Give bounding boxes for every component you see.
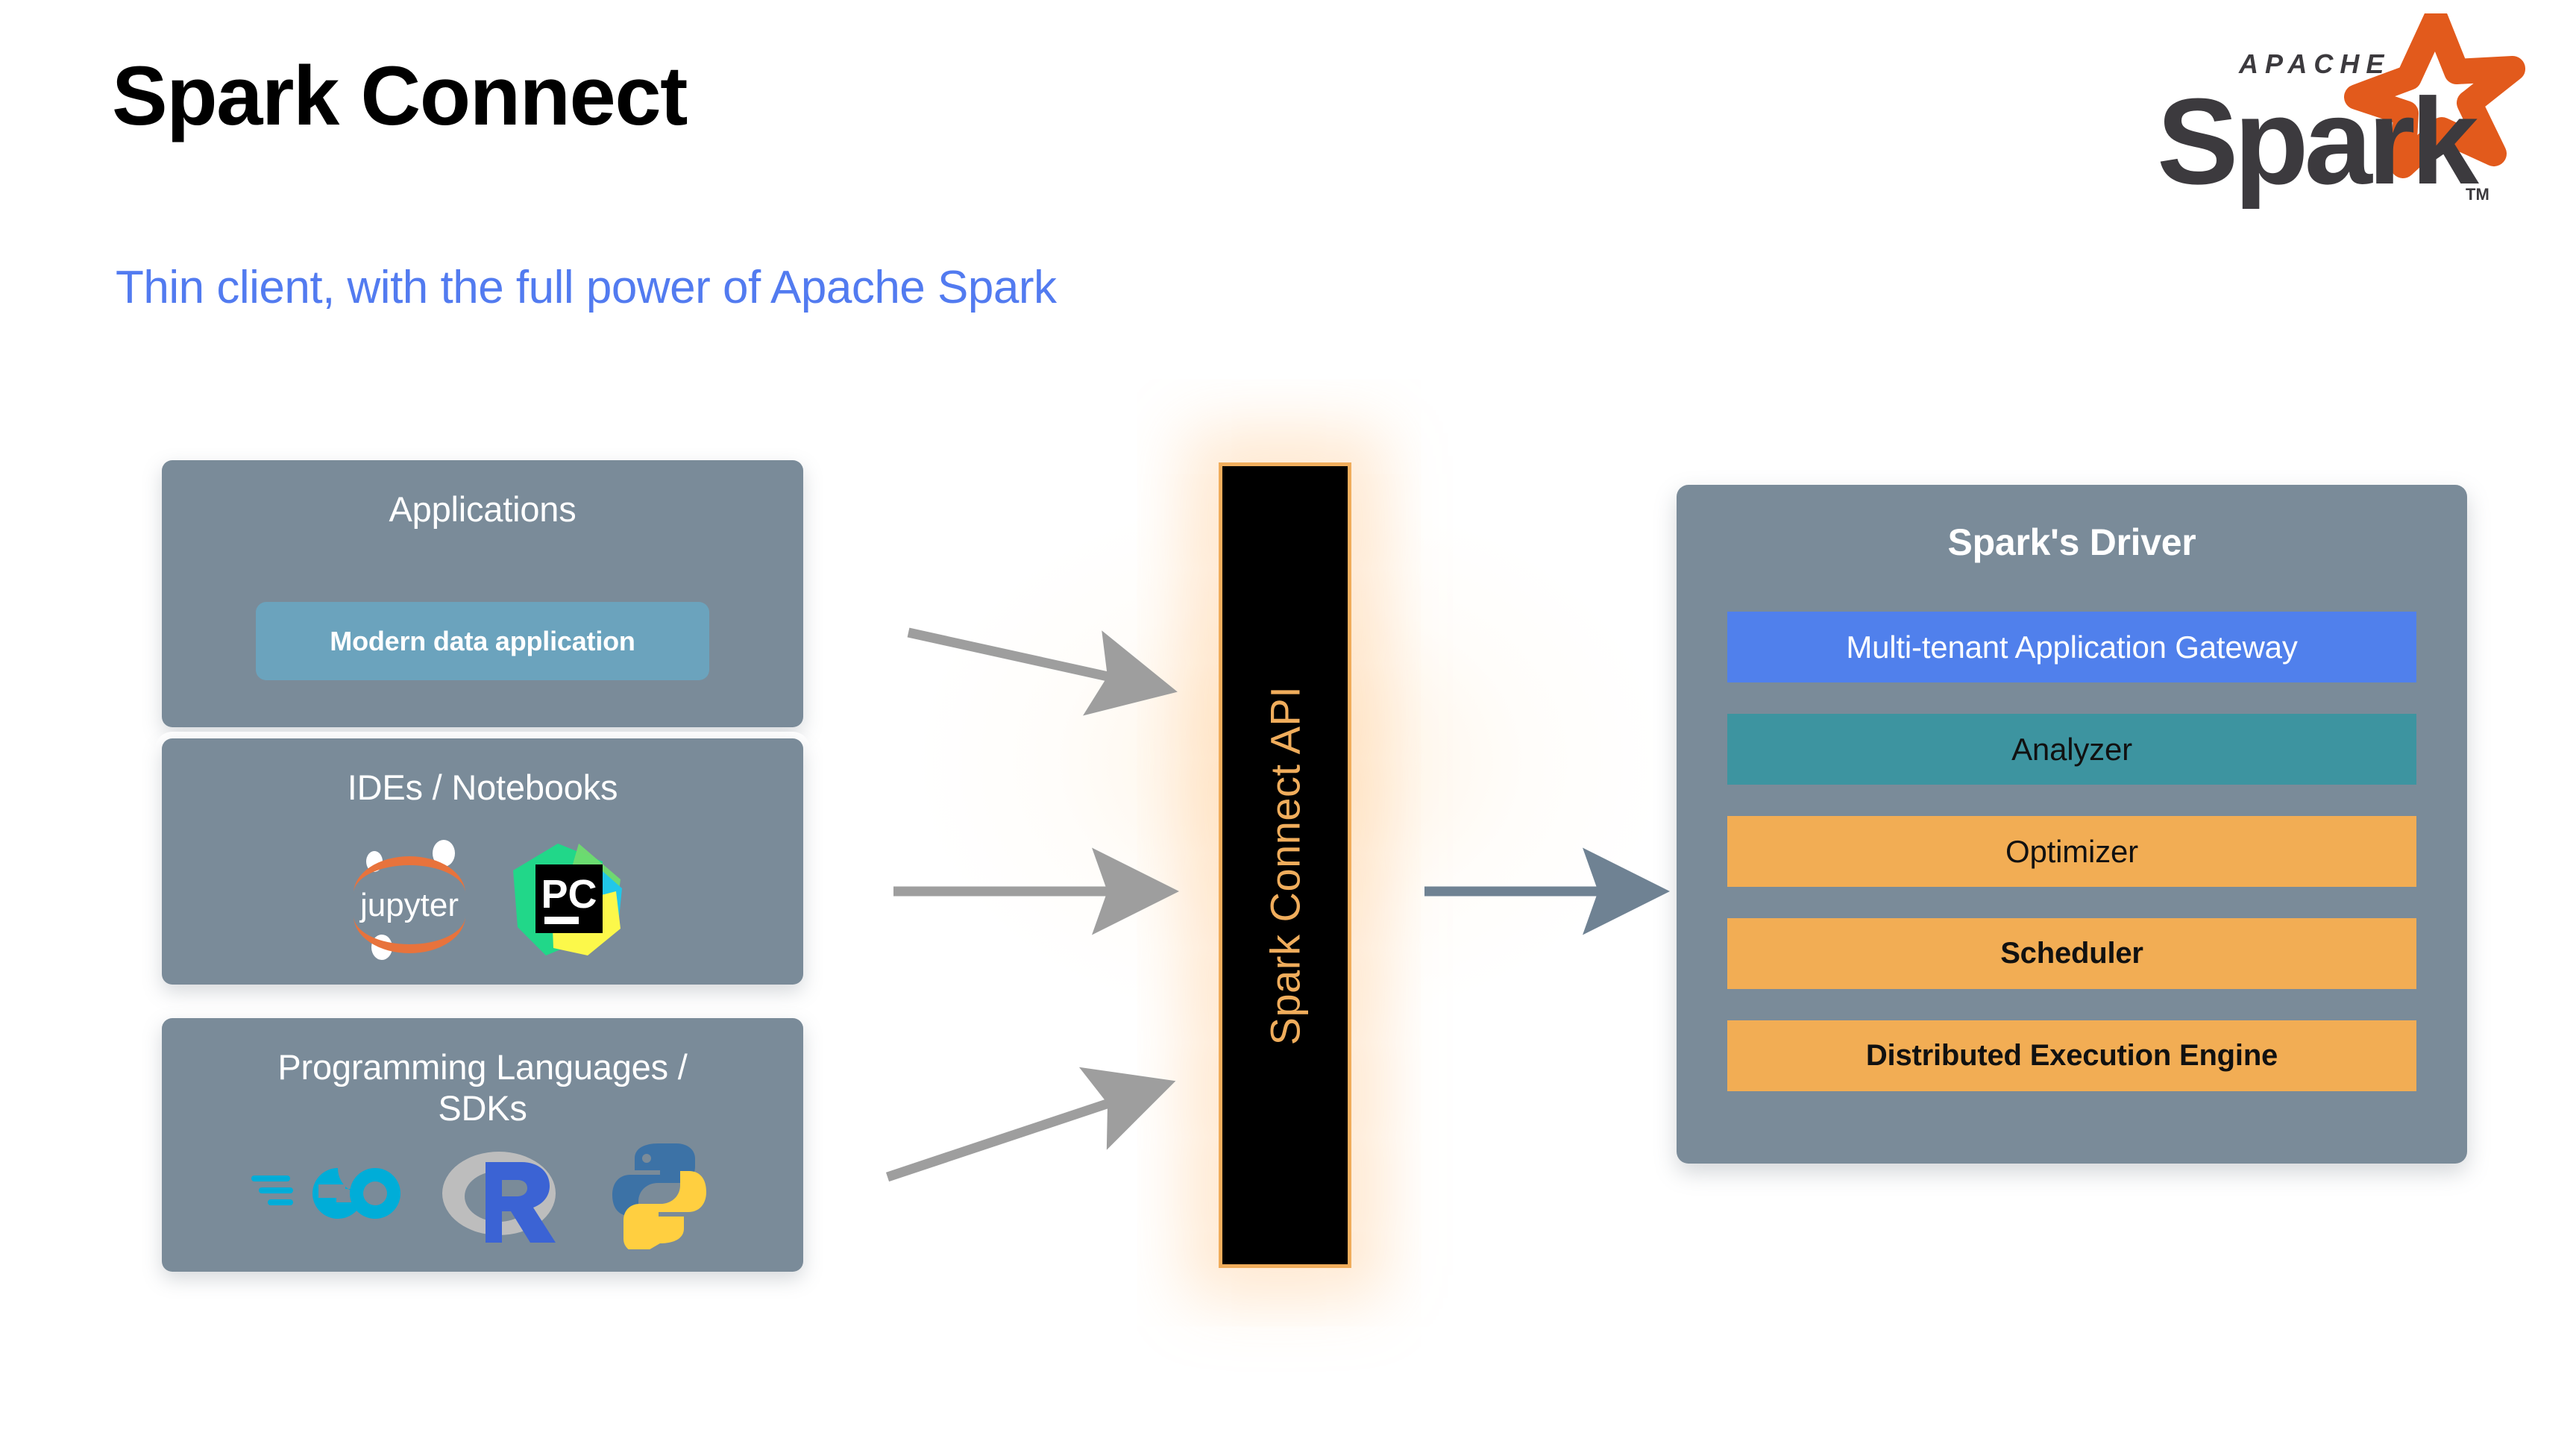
driver-row-analyzer[interactable]: Analyzer xyxy=(1727,714,2416,785)
card-ides-notebooks[interactable]: IDEs / Notebooks jupyter PC xyxy=(162,738,803,985)
card-applications-title: Applications xyxy=(162,460,803,530)
driver-row-optimizer[interactable]: Optimizer xyxy=(1727,816,2416,887)
driver-row-multi-tenant-application-gateway[interactable]: Multi-tenant Application Gateway xyxy=(1727,612,2416,682)
page-title: Spark Connect xyxy=(112,52,687,140)
ide-logo-row: jupyter PC xyxy=(162,835,803,962)
language-logo-row xyxy=(162,1137,803,1249)
card-languages-title-line2: SDKs xyxy=(438,1088,527,1128)
pycharm-logo: PC xyxy=(507,839,626,958)
go-logo xyxy=(250,1149,406,1238)
card-applications[interactable]: Applications Modern data application xyxy=(162,460,803,727)
card-programming-languages-sdks[interactable]: Programming Languages / SDKs xyxy=(162,1018,803,1272)
driver-row-list: Multi-tenant Application Gateway Analyze… xyxy=(1727,612,2416,1091)
spark-driver-panel[interactable]: Spark's Driver Multi-tenant Application … xyxy=(1677,485,2467,1164)
pycharm-wordmark: PC xyxy=(541,872,597,917)
page-subtitle: Thin client, with the full power of Apac… xyxy=(116,261,1056,314)
spark-connect-api-bar[interactable]: Spark Connect API xyxy=(1219,462,1351,1268)
spark-connect-api-label: Spark Connect API xyxy=(1261,685,1310,1045)
card-languages-title: Programming Languages / SDKs xyxy=(162,1018,803,1129)
card-ides-title: IDEs / Notebooks xyxy=(162,738,803,808)
modern-data-application-chip[interactable]: Modern data application xyxy=(256,602,709,680)
trademark-text: TM xyxy=(2466,185,2489,204)
arrow-languages-to-api xyxy=(888,1102,1111,1177)
jupyter-wordmark: jupyter xyxy=(359,887,459,923)
jupyter-logo: jupyter xyxy=(339,835,480,962)
apache-spark-logo: APACHE Spark TM xyxy=(2143,13,2531,222)
spark-wordmark-text: Spark xyxy=(2157,73,2480,210)
python-logo xyxy=(603,1137,715,1249)
r-logo xyxy=(438,1141,572,1246)
driver-row-distributed-execution-engine[interactable]: Distributed Execution Engine xyxy=(1727,1020,2416,1091)
arrow-applications-to-api xyxy=(908,633,1111,677)
driver-row-scheduler[interactable]: Scheduler xyxy=(1727,918,2416,989)
spark-driver-title: Spark's Driver xyxy=(1677,485,2467,564)
card-languages-title-line1: Programming Languages / xyxy=(277,1047,687,1087)
